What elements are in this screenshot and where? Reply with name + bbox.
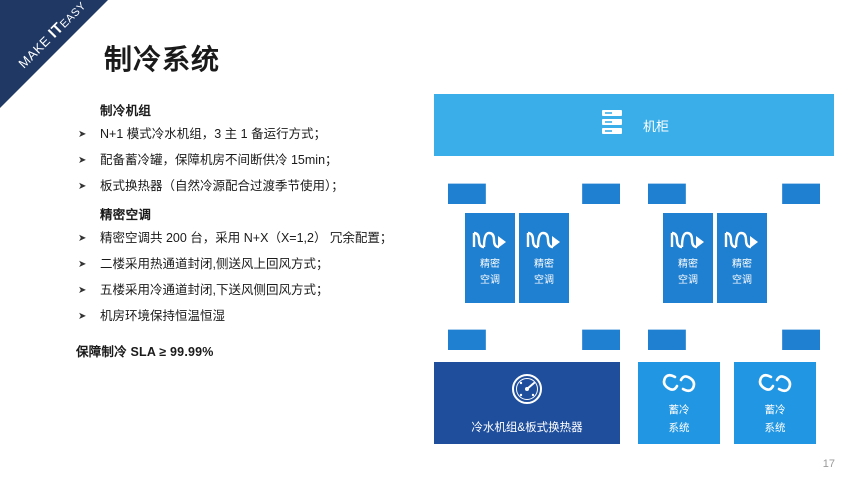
gauge-icon [509, 371, 545, 412]
group-title-precision-ac: 精密空调 [100, 204, 426, 223]
precision-ac-label-line2: 空调 [732, 275, 752, 287]
airflow-wave-icon [524, 229, 564, 255]
list-item: N+1 模式冷水机组，3 主 1 备运行方式； [76, 126, 426, 143]
chilled-water-arrow-left: 冷冻水 [448, 316, 620, 350]
coldair-arrow-right: 冷风 [648, 170, 820, 204]
cold-storage-label-line1: 蓄冷 [669, 404, 690, 417]
bullet-list-chiller: N+1 模式冷水机组，3 主 1 备运行方式； 配备蓄冷罐，保障机房不间断供冷 … [76, 126, 426, 195]
cold-storage-label-line2: 系统 [765, 422, 786, 435]
chiller-heat-exchanger-block: 冷水机组&板式换热器 [434, 362, 620, 444]
sla-statement: 保障制冷 SLA ≥ 99.99% [76, 341, 426, 360]
precision-ac-label-line1: 精密 [732, 259, 752, 271]
ribbon-triangle [0, 0, 108, 108]
precision-ac-label-line2: 空调 [534, 275, 554, 287]
coldair-arrow-left: 冷风 [448, 170, 620, 204]
cabinet-label: 机柜 [643, 116, 669, 135]
precision-ac-label-line2: 空调 [678, 275, 698, 287]
list-item: 机房环境保持恒温恒湿 [76, 308, 426, 325]
precision-ac-label-line2: 空调 [480, 275, 500, 287]
group-title-chiller: 制冷机组 [100, 100, 426, 119]
precision-ac-label-line1: 精密 [534, 259, 554, 271]
server-rack-icon [599, 108, 625, 143]
list-item: 板式换热器（自然冷源配合过渡季节使用）； [76, 178, 426, 195]
coldair-label-left: 冷风 [523, 184, 546, 200]
precision-ac-label-line1: 精密 [480, 259, 500, 271]
page-title: 制冷系统 [104, 38, 220, 78]
precision-ac-unit-3: 精密 空调 [662, 212, 714, 304]
chilled-water-arrow-right: 冷冻水 [648, 316, 820, 350]
chiller-label: 冷水机组&板式换热器 [471, 419, 582, 435]
airflow-wave-icon [722, 229, 762, 255]
list-item: 精密空调共 200 台，采用 N+X（X=1,2） 冗余配置； [76, 230, 426, 247]
airflow-wave-icon [668, 229, 708, 255]
page-number: 17 [823, 458, 835, 470]
cold-storage-label-line1: 蓄冷 [765, 404, 786, 417]
list-item: 配备蓄冷罐，保障机房不间断供冷 15min； [76, 152, 426, 169]
list-item: 五楼采用冷通道封闭,下送风侧回风方式； [76, 282, 426, 299]
cold-storage-block-2: 蓄冷 系统 [734, 362, 816, 444]
cold-storage-label-line2: 系统 [669, 422, 690, 435]
cooling-system-diagram: 机柜 冷风 冷风 精密 空调 精密 空调 [434, 94, 834, 444]
cabinet-block: 机柜 [434, 94, 834, 156]
corner-ribbon: MAKE ITEASY [0, 0, 108, 108]
coldair-label-right: 冷风 [723, 184, 746, 200]
precision-ac-unit-2: 精密 空调 [518, 212, 570, 304]
cold-storage-block-1: 蓄冷 系统 [638, 362, 720, 444]
precision-ac-unit-4: 精密 空调 [716, 212, 768, 304]
chain-links-icon [758, 372, 792, 399]
chilled-water-label-right: 冷冻水 [717, 330, 752, 346]
chain-links-icon [662, 372, 696, 399]
list-item: 二楼采用热通道封闭,侧送风上回风方式； [76, 256, 426, 273]
precision-ac-label-line1: 精密 [678, 259, 698, 271]
bullet-list-precision-ac: 精密空调共 200 台，采用 N+X（X=1,2） 冗余配置； 二楼采用热通道封… [76, 230, 426, 325]
airflow-wave-icon [470, 229, 510, 255]
precision-ac-unit-1: 精密 空调 [464, 212, 516, 304]
left-content: 制冷机组 N+1 模式冷水机组，3 主 1 备运行方式； 配备蓄冷罐，保障机房不… [76, 100, 426, 360]
chilled-water-label-left: 冷冻水 [517, 330, 552, 346]
